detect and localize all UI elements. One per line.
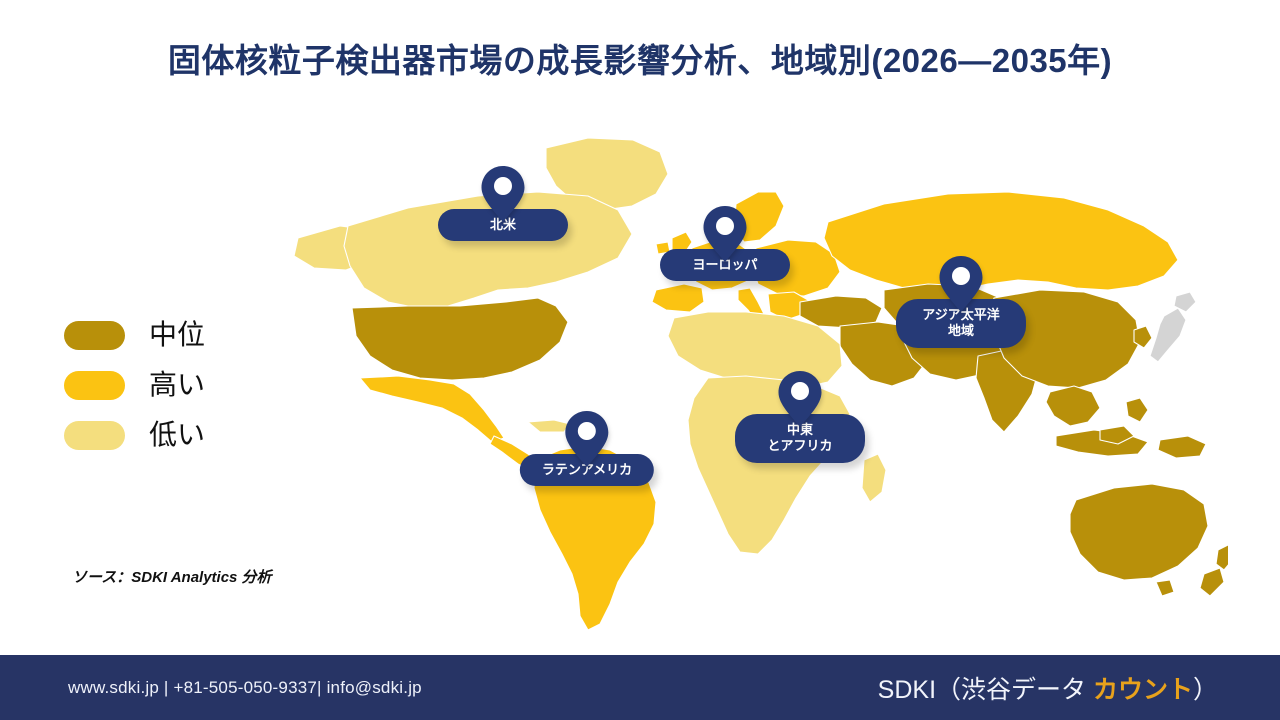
legend-label-low: 低い bbox=[149, 421, 205, 449]
location-pin-icon bbox=[480, 165, 526, 223]
page-title: 固体核粒子検出器市場の成長影響分析、地域別(2026—2035年) bbox=[0, 34, 1280, 82]
source-note: ソース：SDKI Analytics 分析 bbox=[72, 566, 272, 587]
location-pin-icon bbox=[777, 370, 823, 428]
map-pin-asia-pacific[interactable]: アジア太平洋 地域 bbox=[896, 255, 1026, 348]
region-new-zealand-south bbox=[1200, 568, 1224, 596]
location-pin-icon bbox=[702, 205, 748, 263]
location-pin-icon bbox=[938, 255, 984, 313]
region-madagascar bbox=[862, 454, 886, 502]
legend-swatch-medium bbox=[64, 321, 125, 350]
map-pin-latin-america[interactable]: ラテンアメリカ bbox=[520, 410, 654, 486]
footer-brand-prefix: SDKI（渋谷データ bbox=[878, 676, 1093, 704]
region-new-zealand bbox=[1216, 544, 1228, 570]
legend-item-low: 低い bbox=[64, 410, 294, 460]
legend-label-medium: 中位 bbox=[149, 321, 205, 349]
map-pin-europe[interactable]: ヨーロッパ bbox=[660, 205, 790, 281]
region-southeast-asia bbox=[1046, 386, 1100, 426]
footer-brand-suffix: ） bbox=[1193, 676, 1218, 704]
region-tasmania bbox=[1156, 580, 1174, 596]
region-new-guinea bbox=[1158, 436, 1206, 458]
footer-brand-accent: カウント bbox=[1093, 676, 1193, 704]
map-pin-middle-east-africa[interactable]: 中東 とアフリカ bbox=[735, 370, 865, 463]
legend: 中位 高い 低い bbox=[64, 310, 294, 460]
region-australia bbox=[1070, 484, 1208, 580]
region-mexico bbox=[360, 376, 504, 442]
map-pin-north-america[interactable]: 北米 bbox=[438, 165, 568, 241]
slide-root: 固体核粒子検出器市場の成長影響分析、地域別(2026—2035年) 中位 高い … bbox=[0, 0, 1280, 720]
region-iberia bbox=[652, 284, 704, 312]
footer-contact-info[interactable]: www.sdki.jp | +81-505-050-9337| info@sdk… bbox=[68, 678, 422, 698]
legend-swatch-low bbox=[64, 421, 125, 450]
region-usa bbox=[352, 298, 568, 380]
legend-label-high: 高い bbox=[149, 371, 205, 399]
footer-brand: SDKI（渋谷データ カウント） bbox=[878, 670, 1218, 706]
region-philippines bbox=[1126, 398, 1148, 422]
legend-swatch-high bbox=[64, 371, 125, 400]
legend-item-high: 高い bbox=[64, 360, 294, 410]
footer-bar: www.sdki.jp | +81-505-050-9337| info@sdk… bbox=[0, 655, 1280, 720]
region-japan bbox=[1150, 308, 1186, 362]
legend-item-medium: 中位 bbox=[64, 310, 294, 360]
world-map: 北米 ヨーロッパ アジア太平洋 地域 中東 とアフリカ bbox=[288, 130, 1228, 630]
location-pin-icon bbox=[564, 410, 610, 468]
